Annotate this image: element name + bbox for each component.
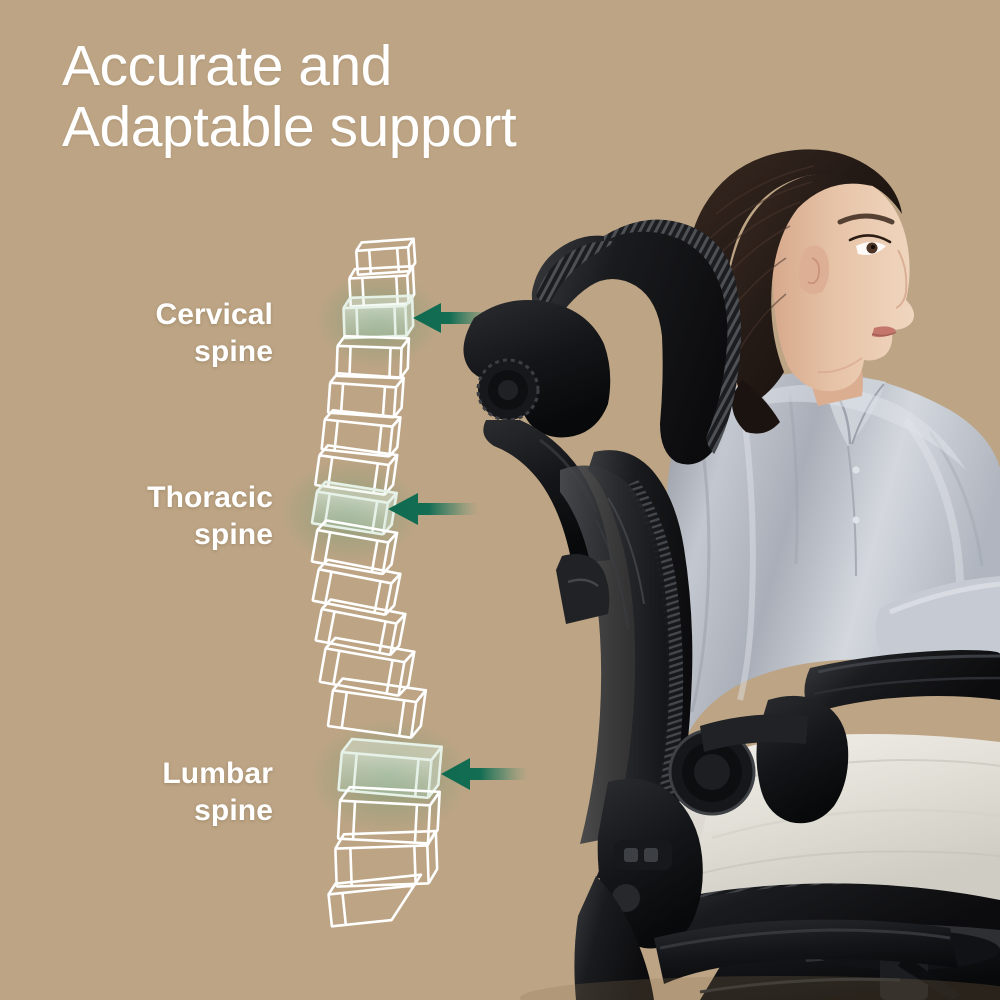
product-photo-woman-in-chair	[0, 0, 1000, 1000]
marketing-hero-banner: Accurate and Adaptable support	[0, 0, 1000, 1000]
